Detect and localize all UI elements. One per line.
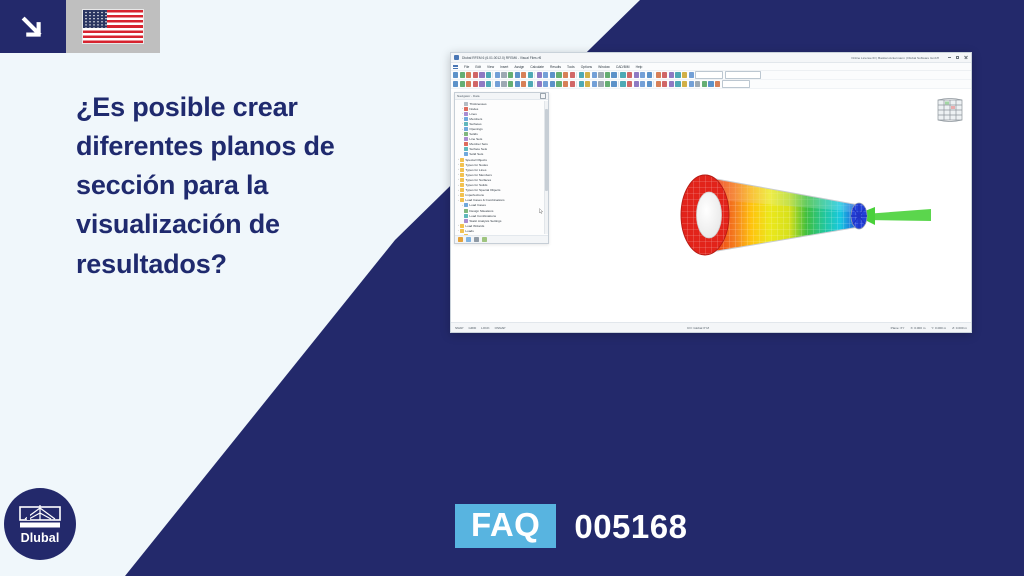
toolbar-button-0[interactable] [453, 72, 458, 77]
tree-item-label: Imperfections [465, 193, 484, 197]
tree-node-icon [460, 158, 464, 162]
toolbar-primary[interactable] [451, 71, 971, 80]
tree-node-icon [464, 112, 468, 116]
toolbar-button-28[interactable] [620, 72, 625, 77]
toolbar-separator [653, 81, 654, 87]
faq-slide: ¿Es posible crear diferentes planos de s… [0, 0, 1024, 576]
toolbar-button-31[interactable] [640, 72, 645, 77]
tree-node-icon [464, 219, 468, 223]
tree-item-label: Load Cases [469, 203, 486, 207]
tree-node-icon [460, 188, 464, 192]
toolbar-separator [576, 72, 577, 78]
toolbar-button-16[interactable] [550, 81, 555, 86]
toolbar-button-34[interactable] [656, 72, 661, 77]
tree-node-icon [460, 193, 464, 197]
tree-node-icon [464, 132, 468, 136]
header-icon-group [0, 0, 160, 53]
arrow-down-right-icon [0, 0, 66, 53]
window-controls[interactable] [947, 55, 968, 60]
pin-icon[interactable] [540, 93, 546, 99]
tree-node-icon [460, 178, 464, 182]
toolbar-button-24[interactable] [598, 81, 603, 86]
minimize-button[interactable] [947, 55, 952, 60]
toolbar-button-21[interactable] [579, 72, 584, 77]
toolbar-button-7[interactable] [495, 72, 500, 77]
tab-data-icon[interactable] [458, 237, 463, 242]
toolbar-button-38[interactable] [682, 72, 687, 77]
faq-footer: FAQ 005168 [455, 504, 687, 548]
navigator-scrollbar[interactable] [544, 101, 548, 234]
tree-item-label: Types for Lines [465, 168, 486, 172]
tab-results-icon[interactable] [482, 237, 487, 242]
toolbar-button-5[interactable] [486, 81, 491, 86]
toolbar-button-40[interactable] [695, 81, 700, 86]
toolbar-button-30[interactable] [634, 81, 639, 86]
tree-node-icon [460, 224, 464, 228]
toolbar-button-37[interactable] [675, 72, 680, 77]
toolbar-button-30[interactable] [634, 72, 639, 77]
dlubal-logo: Dlubal [4, 488, 76, 560]
tree-item-label: Member Sets [469, 142, 487, 146]
menu-item-insert[interactable]: Insert [497, 65, 511, 69]
toolbar-button-4[interactable] [479, 72, 484, 77]
toolbar-button-10[interactable] [515, 72, 520, 77]
toolbar-dropdown-0[interactable] [722, 80, 750, 87]
toolbar-button-7[interactable] [495, 81, 500, 86]
menu-item-assign[interactable]: Assign [511, 65, 527, 69]
toolbar-button-12[interactable] [528, 72, 533, 77]
license-info: Online License ID | Bastian Ackermann | … [851, 56, 939, 60]
menu-item-calculate[interactable]: Calculate [527, 65, 547, 69]
toolbar-button-36[interactable] [669, 72, 674, 77]
menu-item-options[interactable]: Options [578, 65, 595, 69]
toolbar-button-11[interactable] [521, 72, 526, 77]
toolbar-button-22[interactable] [585, 72, 590, 77]
tree-item-label: Load Combinations [469, 214, 496, 218]
tree-item-label: Thicknesses [469, 102, 486, 106]
status-osnap[interactable]: OSNAP [495, 326, 506, 330]
toolbar-button-31[interactable] [640, 81, 645, 86]
tree-node-icon [464, 209, 468, 213]
tree-item-label: Solid Sets [469, 152, 483, 156]
window-titlebar: Dlubal RFEM 6 (6.01.0012.0) RFEM6 - Visu… [451, 53, 971, 63]
status-snap[interactable]: SNAP [455, 326, 463, 330]
status-lock[interactable]: LOCK [481, 326, 489, 330]
status-plane: Plane: XY [891, 326, 905, 330]
tree-item-label: Solids [469, 132, 477, 136]
toolbar-button-0[interactable] [453, 81, 458, 86]
menu-item-window[interactable]: Window [595, 65, 613, 69]
status-bar: SNAP GRID LOCK OSNAP CO: Global XYZ Plan… [451, 322, 971, 332]
menu-item-edit[interactable]: Edit [472, 65, 484, 69]
faq-number: 005168 [574, 510, 687, 543]
tree-item-lc1[interactable]: ›LC1 [455, 233, 548, 235]
truss-bridge-icon [19, 504, 61, 530]
toolbar-secondary[interactable] [451, 80, 971, 89]
tree-node-icon [464, 107, 468, 111]
tree-item-label: Surface Sets [469, 147, 487, 151]
toolbar-button-19[interactable] [570, 72, 575, 77]
tab-display-icon[interactable] [466, 237, 471, 242]
toolbar-separator [653, 72, 654, 78]
toolbar-separator [534, 81, 535, 87]
toolbar-button-21[interactable] [579, 81, 584, 86]
toolbar-button-17[interactable] [556, 72, 561, 77]
menu-item-results[interactable]: Results [547, 65, 564, 69]
workspace: Navigator - Data Thicknesses›Nodes›Lines… [451, 89, 971, 322]
status-coord-y: Y: 0.000 m [931, 326, 946, 330]
toolbar-button-1[interactable] [460, 72, 465, 77]
tree-item-label: Surfaces [469, 122, 481, 126]
rfem-application-window: Dlubal RFEM 6 (6.01.0012.0) RFEM6 - Visu… [450, 52, 972, 333]
menu-item-cadbim[interactable]: CAD/BIM [613, 65, 633, 69]
toolbar-button-29[interactable] [627, 81, 632, 86]
toolbar-button-3[interactable] [473, 72, 478, 77]
tree-item-label: Types for Solids [465, 183, 487, 187]
toolbar-button-26[interactable] [611, 72, 616, 77]
menu-item-view[interactable]: View [484, 65, 497, 69]
navigator-title: Navigator - Data [457, 94, 480, 98]
status-grid[interactable]: GRID [468, 326, 476, 330]
tree-item-label: Types for Special Objects [465, 188, 500, 192]
tree-item-label: Openings [469, 127, 482, 131]
menu-item-tools[interactable]: Tools [564, 65, 578, 69]
toolbar-button-16[interactable] [550, 72, 555, 77]
tree-node-icon [460, 198, 464, 202]
tree-node-icon [460, 183, 464, 187]
toolbar-button-35[interactable] [662, 81, 667, 86]
menu-item-help[interactable]: Help [633, 65, 646, 69]
toolbar-separator [492, 72, 493, 78]
toolbar-button-14[interactable] [537, 81, 542, 86]
toolbar-button-2[interactable] [466, 81, 471, 86]
toolbar-button-10[interactable] [515, 81, 520, 86]
tree-node-icon [460, 173, 464, 177]
language-flag-button[interactable] [66, 0, 160, 53]
tapered-tower-result-contour [669, 157, 939, 267]
toolbar-button-42[interactable] [708, 81, 713, 86]
toolbar-button-22[interactable] [585, 81, 590, 86]
toolbar-button-9[interactable] [508, 72, 513, 77]
menu-bar[interactable]: File Edit View Insert Assign Calculate R… [451, 63, 971, 71]
tree-node-icon [460, 229, 464, 233]
toolbar-button-36[interactable] [669, 81, 674, 86]
toolbar-button-18[interactable] [563, 81, 568, 86]
tree-node-icon [460, 168, 464, 172]
toolbar-button-15[interactable] [543, 81, 548, 86]
tree-item-label: Load Cases & Combinations [465, 198, 504, 202]
menu-item-file[interactable]: File [461, 65, 472, 69]
tree-item-label: Loads [465, 229, 473, 233]
tree-item-label: Special Objects [465, 158, 487, 162]
toolbar-button-43[interactable] [715, 81, 720, 86]
toolbar-button-41[interactable] [702, 81, 707, 86]
tree-node-icon [464, 122, 468, 126]
toolbar-button-15[interactable] [543, 72, 548, 77]
tree-node-icon [464, 117, 468, 121]
toolbar-button-34[interactable] [656, 81, 661, 86]
tree-item-label: Types for Surfaces [465, 178, 491, 182]
tree-item-label: Static Analysis Settings [469, 219, 501, 223]
toolbar-button-25[interactable] [605, 81, 610, 86]
logo-text: Dlubal [21, 532, 60, 545]
navigator-tree[interactable]: Thicknesses›Nodes›Lines›Members›Surfaces… [455, 101, 548, 235]
tree-item-label: Types for Nodes [465, 163, 488, 167]
tree-node-icon [464, 152, 468, 156]
toolbar-button-14[interactable] [537, 72, 542, 77]
tree-node-icon [464, 102, 468, 106]
toolbar-button-38[interactable] [682, 81, 687, 86]
mouse-cursor-icon [539, 208, 543, 214]
toolbar-dropdown-0[interactable] [695, 71, 723, 78]
tree-node-icon [464, 147, 468, 151]
tab-views-icon[interactable] [474, 237, 479, 242]
tree-node-icon [464, 234, 468, 235]
faq-badge: FAQ [455, 504, 556, 548]
toolbar-button-8[interactable] [501, 81, 506, 86]
tree-node-icon [464, 127, 468, 131]
toolbar-button-39[interactable] [689, 81, 694, 86]
us-flag-icon [83, 10, 143, 43]
toolbar-button-37[interactable] [675, 81, 680, 86]
maximize-button[interactable] [955, 55, 960, 60]
tree-node-icon [460, 163, 464, 167]
navigator-header: Navigator - Data [455, 93, 548, 100]
window-title: Dlubal RFEM 6 (6.01.0012.0) RFEM6 - Visu… [462, 56, 541, 60]
toolbar-button-28[interactable] [620, 81, 625, 86]
toolbar-dropdown-1[interactable] [725, 71, 761, 78]
data-navigator-panel[interactable]: Navigator - Data Thicknesses›Nodes›Lines… [454, 92, 549, 244]
status-coord-x: X: 0.000 m [910, 326, 925, 330]
toolbar-button-11[interactable] [521, 81, 526, 86]
toolbar-button-23[interactable] [592, 72, 597, 77]
scrollbar-thumb[interactable] [545, 109, 548, 191]
toolbar-separator [618, 81, 619, 87]
navigator-footer-tabs[interactable] [455, 235, 548, 243]
page-title: ¿Es posible crear diferentes planos de s… [76, 88, 426, 284]
toolbar-button-9[interactable] [508, 81, 513, 86]
tree-item-label: Design Situations [469, 209, 493, 213]
toolbar-button-12[interactable] [528, 81, 533, 86]
tree-item-label: Lines [469, 112, 476, 116]
toolbar-button-17[interactable] [556, 81, 561, 86]
toolbar-button-29[interactable] [627, 72, 632, 77]
toolbar-button-25[interactable] [605, 72, 610, 77]
toolbar-separator [534, 72, 535, 78]
tree-node-icon [464, 142, 468, 146]
toolbar-button-35[interactable] [662, 72, 667, 77]
toolbar-button-39[interactable] [689, 72, 694, 77]
toolbar-button-1[interactable] [460, 81, 465, 86]
navigator-tree-body[interactable]: Thicknesses›Nodes›Lines›Members›Surfaces… [455, 100, 548, 235]
toolbar-button-32[interactable] [647, 72, 652, 77]
view-cube-icon[interactable] [935, 96, 965, 124]
tree-item-label: LC1 [469, 234, 475, 235]
toolbar-button-4[interactable] [479, 81, 484, 86]
toolbar-button-2[interactable] [466, 72, 471, 77]
toolbar-button-5[interactable] [486, 72, 491, 77]
toolbar-separator [618, 72, 619, 78]
toolbar-separator [576, 81, 577, 87]
tree-item-label: Load Wizards [465, 224, 484, 228]
toolbar-button-3[interactable] [473, 81, 478, 86]
toolbar-button-26[interactable] [611, 81, 616, 86]
tree-item-label: Types for Members [465, 173, 491, 177]
toolbar-button-18[interactable] [563, 72, 568, 77]
tree-node-icon [464, 203, 468, 207]
toolbar-button-8[interactable] [501, 72, 506, 77]
status-modes[interactable]: SNAP GRID LOCK OSNAP [455, 326, 505, 330]
tree-node-icon [464, 137, 468, 141]
toolbar-separator [492, 81, 493, 87]
tree-item-label: Line Sets [469, 137, 482, 141]
toolbar-button-19[interactable] [570, 81, 575, 86]
tree-node-icon [464, 214, 468, 218]
toolbar-button-32[interactable] [647, 81, 652, 86]
hamburger-icon[interactable] [453, 65, 458, 69]
model-viewport[interactable] [551, 89, 971, 322]
status-loadcase: CO: Global XYZ [687, 326, 709, 330]
toolbar-button-23[interactable] [592, 81, 597, 86]
tree-item-label: Nodes [469, 107, 478, 111]
tree-item-label: Members [469, 117, 482, 121]
status-coord-z: Z: 0.000 m [952, 326, 967, 330]
app-icon [454, 55, 459, 60]
toolbar-button-24[interactable] [598, 72, 603, 77]
close-button[interactable] [963, 55, 968, 60]
